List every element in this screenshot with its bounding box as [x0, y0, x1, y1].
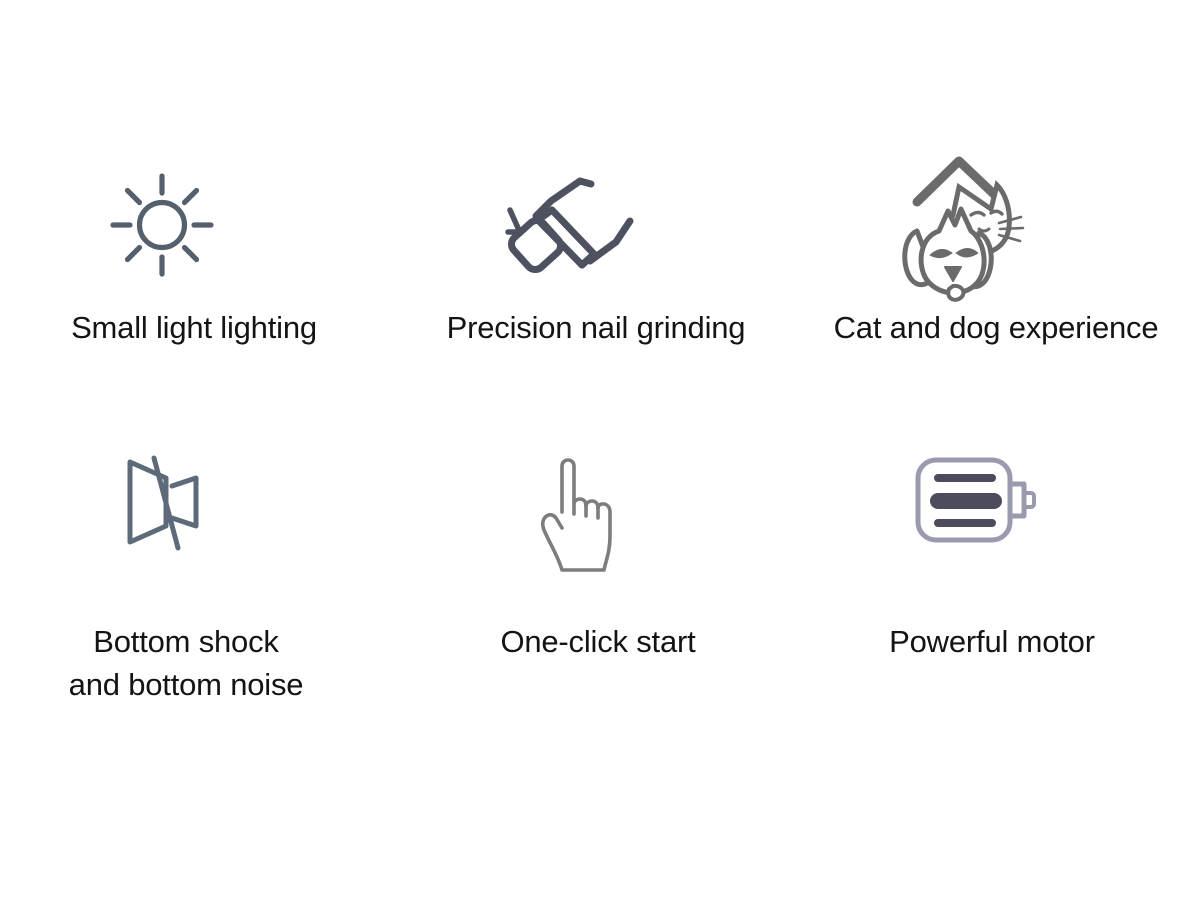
nail-grinder-icon-wrap: [508, 150, 644, 300]
feature-label: Bottom shock and bottom noise: [69, 620, 304, 706]
motor-icon: [912, 452, 1044, 548]
feature-item-cat-and-dog-experience: Cat and dog experience: [800, 150, 1200, 438]
feature-item-small-light-lighting: Small light lighting: [0, 150, 400, 438]
feature-grid: Small light lighting: [0, 150, 1200, 750]
sun-icon: [106, 169, 218, 281]
feature-label: Cat and dog experience: [834, 306, 1159, 349]
pointing-hand-icon: [540, 452, 636, 580]
cat-and-dog-icon: [887, 149, 1037, 301]
cat-and-dog-icon-wrap: [887, 150, 1037, 300]
feature-item-precision-nail-grinding: Precision nail grinding: [400, 150, 800, 438]
feature-item-bottom-shock-and-bottom-noise: Bottom shock and bottom noise: [0, 438, 400, 750]
sun-icon-wrap: [106, 150, 218, 300]
feature-item-one-click-start: One-click start: [400, 438, 800, 750]
muted-speaker-icon-wrap: [122, 438, 214, 598]
feature-label: Powerful motor: [889, 620, 1095, 663]
feature-item-powerful-motor: Powerful motor: [800, 438, 1200, 750]
pointing-hand-icon-wrap: [540, 438, 636, 598]
feature-board: Small light lighting: [0, 0, 1200, 900]
motor-icon-wrap: [912, 438, 1044, 598]
muted-speaker-icon: [122, 452, 214, 552]
feature-label: Small light lighting: [71, 306, 317, 349]
nail-grinder-icon: [508, 170, 644, 280]
feature-label: One-click start: [500, 620, 695, 663]
feature-label: Precision nail grinding: [447, 306, 746, 349]
